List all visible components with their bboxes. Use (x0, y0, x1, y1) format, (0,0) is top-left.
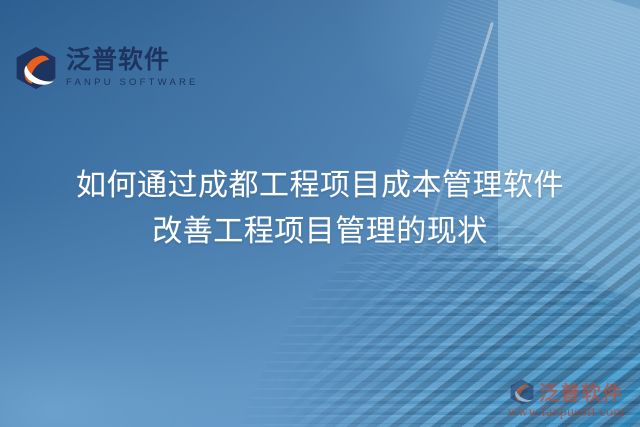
logo-english-name: FANPU SOFTWARE (66, 78, 199, 88)
watermark-chinese-name: 泛普软件 (539, 377, 623, 406)
promotional-banner: 泛普软件 FANPU SOFTWARE 如何通过成都工程项目成本管理软件 改善工… (0, 0, 640, 427)
watermark-url: www.fanpusoft.com (496, 405, 636, 421)
banner-headline: 如何通过成都工程项目成本管理软件 改善工程项目管理的现状 (0, 163, 640, 255)
fanpu-hexagon-logo-icon (14, 46, 58, 90)
site-watermark: 泛普软件 www.fanpusoft.com (496, 377, 636, 421)
logo-chinese-name: 泛普软件 (66, 48, 199, 73)
headline-line-1: 如何通过成都工程项目成本管理软件 (0, 163, 640, 209)
fanpu-hexagon-logo-watermark-icon (509, 379, 535, 405)
brand-logo[interactable]: 泛普软件 FANPU SOFTWARE (14, 46, 199, 90)
headline-line-2: 改善工程项目管理的现状 (0, 209, 640, 255)
watermark-brand-row: 泛普软件 (496, 377, 636, 406)
logo-wordmark: 泛普软件 FANPU SOFTWARE (66, 48, 199, 88)
